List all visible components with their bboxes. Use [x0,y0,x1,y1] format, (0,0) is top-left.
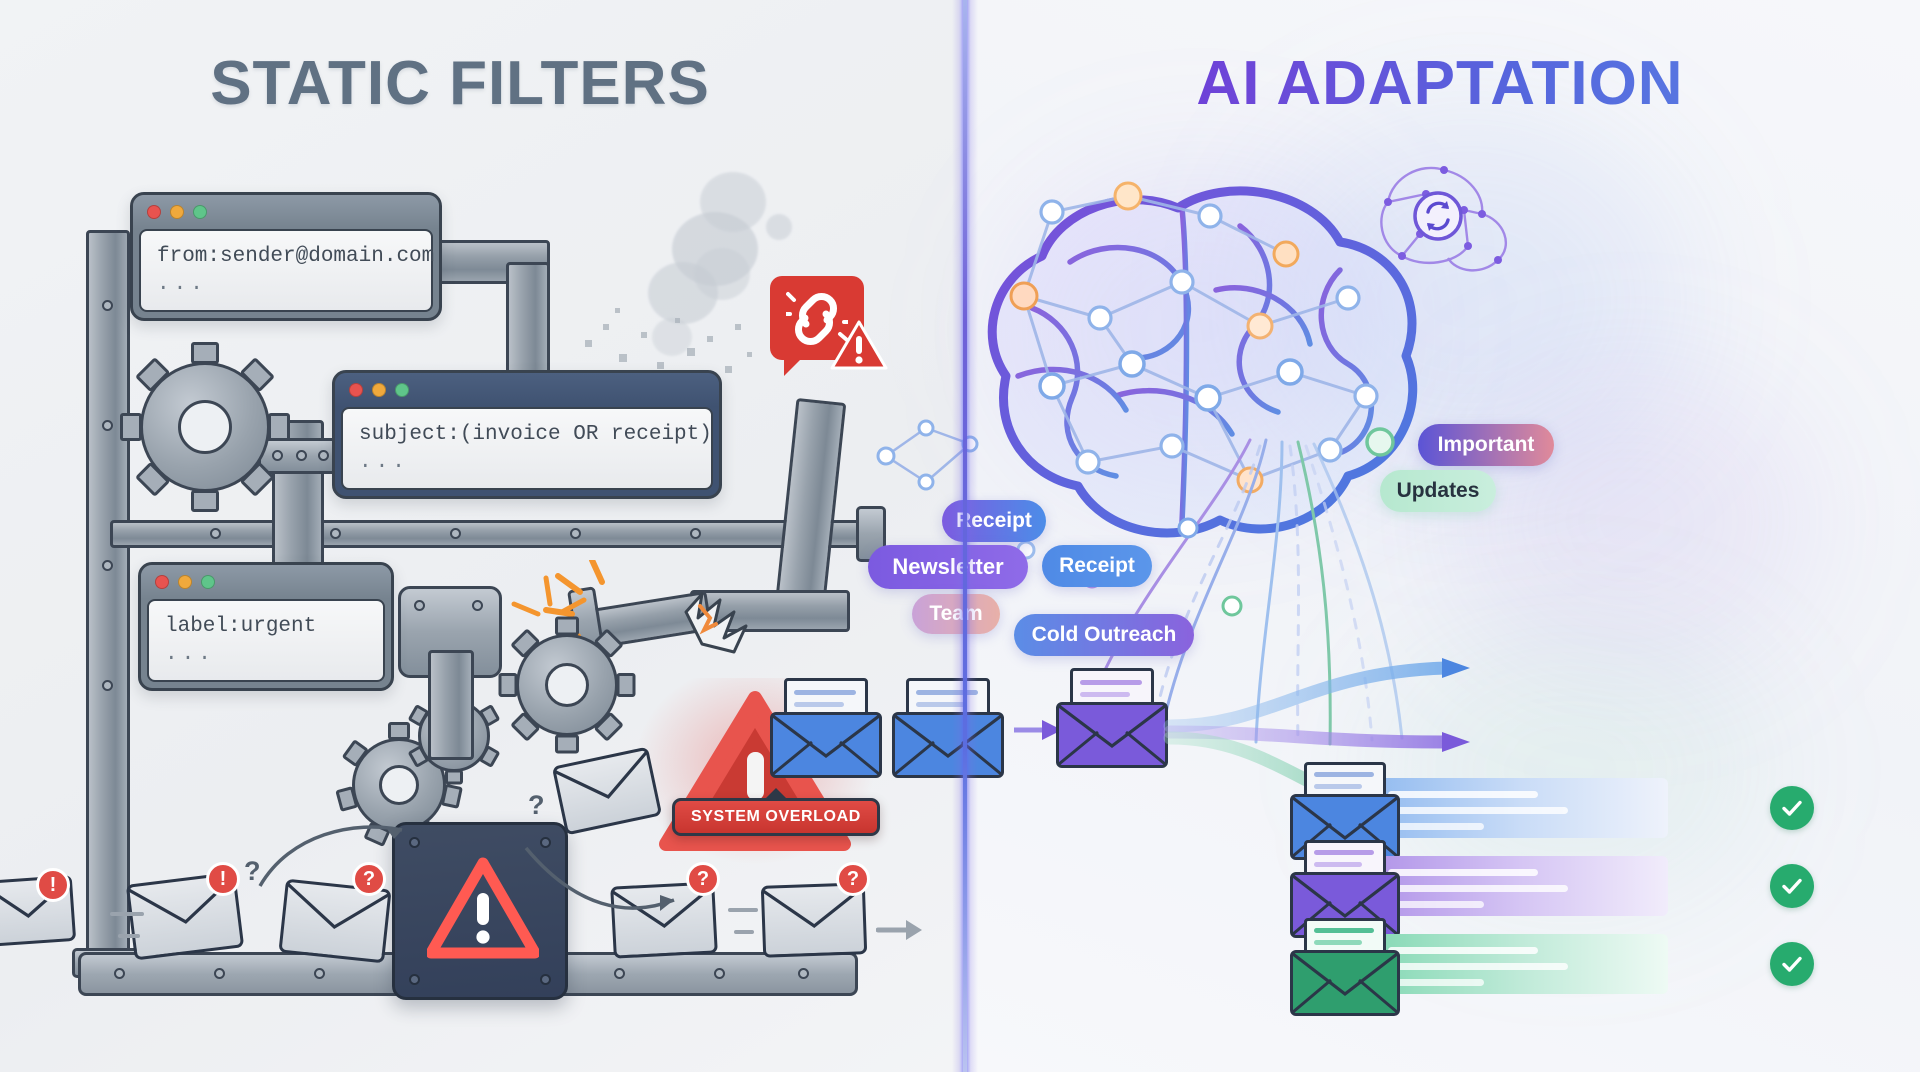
confusion-arrow [250,790,430,900]
window-titlebar [335,373,719,407]
motion-lines [108,900,178,960]
window-titlebar [141,565,391,599]
rivet [472,600,483,611]
pipeline-envelope-2 [892,678,1004,778]
close-icon[interactable] [147,205,161,219]
minimize-icon[interactable] [170,205,184,219]
rivet [690,528,701,539]
rivet [272,450,283,461]
tag-pill-receipt-2[interactable]: Receipt [1042,545,1152,587]
question-mark: ? [528,790,545,821]
exit-arrow [876,912,928,948]
filter-window-label[interactable]: label:urgent ... [138,562,394,691]
filter-query-line: label:urgent [165,613,367,641]
filter-ellipsis: ... [359,449,695,477]
tag-pill-important[interactable]: Important [1418,424,1554,466]
filter-ellipsis: ... [157,271,415,299]
minimize-icon[interactable] [372,383,386,397]
panel-ai-adaptation: Receipt Newsletter Team Receipt Cold Out… [960,0,1920,1072]
filter-query-line: from:sender@domain.com [157,243,415,271]
rivet [318,450,329,461]
confusion-arrow [518,830,688,930]
envelope-question-badge: ? [686,862,720,896]
window-titlebar [133,195,439,229]
filter-code-body: label:urgent ... [147,599,385,682]
pipeline-envelope-3 [1056,668,1168,768]
tag-pill-newsletter[interactable]: Newsletter [868,545,1028,589]
rivet [102,300,113,311]
rivet [414,600,425,611]
minimize-icon[interactable] [178,575,192,589]
panel-divider [952,0,978,1072]
maximize-icon[interactable] [395,383,409,397]
rivet [570,528,581,539]
system-overload-badge: SYSTEM OVERLOAD [672,798,880,836]
panel-static-filters: .gear[data-name="gear-large"]::before{wi… [0,0,960,1072]
motion-lines [726,896,796,956]
page-title-right: AI ADAPTATION [960,48,1920,119]
maximize-icon[interactable] [193,205,207,219]
filter-window-from[interactable]: from:sender@domain.com ... [130,192,442,321]
pipe-right-descend [776,398,847,602]
rivet [210,528,221,539]
gear-large [140,362,270,492]
infographic-canvas: .gear[data-name="gear-large"]::before{wi… [0,0,1920,1072]
network-sync-icon [1364,150,1534,290]
filter-window-subject[interactable]: subject:(invoice OR receipt) ... [332,370,722,499]
maximize-icon[interactable] [201,575,215,589]
pipe-valve-stem [428,650,474,760]
status-check-important [1770,786,1814,830]
close-icon[interactable] [155,575,169,589]
question-mark: ? [244,856,261,887]
sorted-envelope-receipts [1290,918,1400,1018]
filter-code-body: from:sender@domain.com ... [139,229,433,312]
page-title-left: STATIC FILTERS [0,48,920,119]
rivet [102,420,113,431]
rivet [102,560,113,571]
envelope-question-badge: ? [836,862,870,896]
filter-code-body: subject:(invoice OR receipt) ... [341,407,713,490]
envelope-alert-badge: ! [36,868,70,902]
tag-pill-updates[interactable]: Updates [1380,470,1496,512]
pipe-break-crack [680,578,800,668]
envelope-alert-badge: ! [206,862,240,896]
pipe-main-rail [110,520,880,548]
spark-burst-gear [500,560,600,660]
status-check-updates [1770,864,1814,908]
rivet [102,680,113,691]
pipe-left-column [86,230,130,980]
rivet [330,528,341,539]
filter-query-line: subject:(invoice OR receipt) [359,421,695,449]
link-warning-icon [830,318,888,372]
status-check-receipts [1770,942,1814,986]
pipeline-envelope-1 [770,678,882,778]
filter-ellipsis: ... [165,641,367,669]
rivet [296,450,307,461]
close-icon[interactable] [349,383,363,397]
rivet [450,528,461,539]
